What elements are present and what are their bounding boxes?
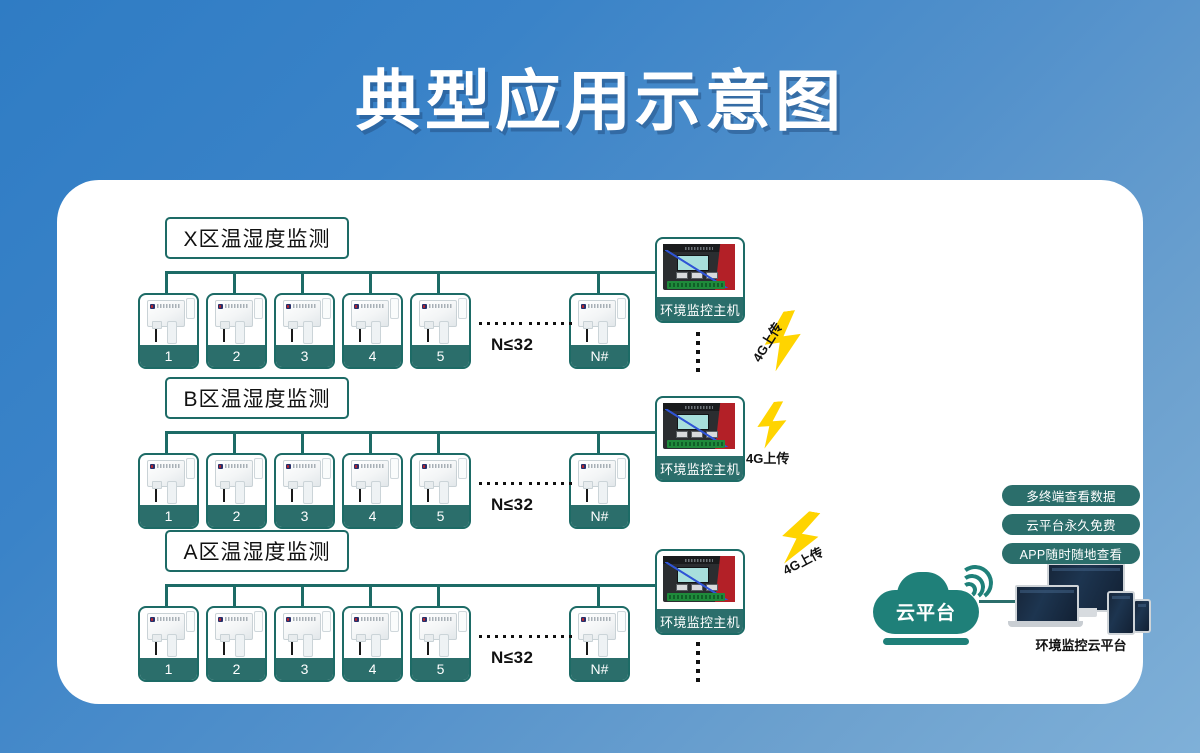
terminal-devices-icon bbox=[1015, 563, 1147, 635]
brand-logo-icon bbox=[218, 617, 223, 622]
sensor-probe-cable bbox=[291, 637, 293, 655]
ellipsis-dots bbox=[479, 322, 522, 325]
sensor-label-lines bbox=[588, 304, 611, 308]
sensor-graphic bbox=[412, 608, 469, 658]
sensor-label-lines bbox=[361, 617, 384, 621]
sensor-vent-icon bbox=[458, 611, 467, 632]
sensor-number: 5 bbox=[412, 505, 469, 527]
sensor-label-lines bbox=[361, 464, 384, 468]
laptop-icon bbox=[1015, 585, 1079, 625]
sensor-probe-body bbox=[371, 481, 381, 504]
brand-logo-icon bbox=[422, 617, 427, 622]
laptop-base bbox=[1008, 621, 1083, 627]
sensor-probe-cable bbox=[586, 324, 588, 342]
sensor-number: N# bbox=[571, 658, 628, 680]
brand-logo-icon bbox=[581, 464, 586, 469]
brand-logo-icon bbox=[354, 464, 359, 469]
sensor-node[interactable]: 3 bbox=[274, 293, 335, 369]
sensor-probe-body bbox=[303, 634, 313, 657]
brand-logo-icon bbox=[218, 464, 223, 469]
sensor-probe-body bbox=[598, 321, 608, 344]
sensor-number: N# bbox=[571, 505, 628, 527]
sensor-number: 3 bbox=[276, 505, 333, 527]
sensor-label-lines bbox=[588, 464, 611, 468]
sensor-graphic bbox=[140, 295, 197, 345]
sensor-probe-body bbox=[439, 321, 449, 344]
zone-title-x: X区温湿度监测 bbox=[165, 217, 349, 259]
sensor-label-lines bbox=[157, 304, 180, 308]
sensor-probe-body bbox=[598, 481, 608, 504]
sensor-vent-icon bbox=[322, 458, 331, 479]
sensor-graphic bbox=[412, 295, 469, 345]
sensor-label-lines bbox=[361, 304, 384, 308]
sensor-label-lines bbox=[157, 464, 180, 468]
sensor-probe-body bbox=[167, 321, 177, 344]
sensor-graphic bbox=[571, 608, 628, 658]
sensor-node[interactable]: 2 bbox=[206, 293, 267, 369]
zone-title-a: A区温湿度监测 bbox=[165, 530, 349, 572]
host-stack-ellipsis bbox=[696, 642, 700, 682]
sensor-node[interactable]: 1 bbox=[138, 293, 199, 369]
brand-logo-icon bbox=[286, 464, 291, 469]
sensor-probe-cable bbox=[427, 484, 429, 502]
sensor-probe-body bbox=[598, 634, 608, 657]
sensor-label-lines bbox=[588, 617, 611, 621]
sensor-probe-cable bbox=[223, 324, 225, 342]
sensor-probe-cable bbox=[223, 484, 225, 502]
sensor-vent-icon bbox=[617, 611, 626, 632]
ellipsis-dots bbox=[479, 635, 522, 638]
sensor-graphic bbox=[276, 608, 333, 658]
sensor-probe-body bbox=[371, 634, 381, 657]
brand-logo-icon bbox=[286, 617, 291, 622]
sensor-label-lines bbox=[225, 304, 248, 308]
capacity-label: N≤32 bbox=[491, 335, 534, 355]
bus-line-b bbox=[165, 431, 721, 434]
sensor-node[interactable]: 1 bbox=[138, 606, 199, 682]
sensor-graphic bbox=[344, 295, 401, 345]
bus-line-x bbox=[165, 271, 721, 274]
uplink-label: 4G上传 bbox=[746, 448, 789, 467]
host-controller[interactable]: 环境监控主机 bbox=[655, 237, 745, 323]
host-controller[interactable]: 环境监控主机 bbox=[655, 396, 745, 482]
sensor-vent-icon bbox=[186, 458, 195, 479]
sensor-vent-icon bbox=[322, 298, 331, 319]
sensor-probe-cable bbox=[427, 637, 429, 655]
sensor-probe-cable bbox=[586, 637, 588, 655]
sensor-probe-body bbox=[439, 481, 449, 504]
uplink-bolt-icon bbox=[747, 400, 796, 449]
sensor-node[interactable]: 2 bbox=[206, 606, 267, 682]
host-device-icon bbox=[663, 244, 735, 290]
feature-badge[interactable]: 多终端查看数据 bbox=[1002, 485, 1140, 506]
host-terminal-block bbox=[667, 440, 725, 448]
sensor-vent-icon bbox=[186, 298, 195, 319]
sensor-label-lines bbox=[429, 304, 452, 308]
sensor-number: 2 bbox=[208, 658, 265, 680]
host-label: 环境监控主机 bbox=[657, 609, 743, 633]
sensor-vent-icon bbox=[390, 458, 399, 479]
sensor-graphic bbox=[208, 295, 265, 345]
sensor-node[interactable]: N# bbox=[569, 453, 630, 529]
phone-icon bbox=[1133, 599, 1151, 633]
sensor-probe-cable bbox=[155, 324, 157, 342]
brand-logo-icon bbox=[422, 304, 427, 309]
bus-line-a bbox=[165, 584, 721, 587]
sensor-probe-cable bbox=[427, 324, 429, 342]
sensor-vent-icon bbox=[617, 458, 626, 479]
sensor-probe-cable bbox=[291, 324, 293, 342]
sensor-graphic bbox=[208, 455, 265, 505]
sensor-number: 2 bbox=[208, 345, 265, 367]
sensor-graphic bbox=[276, 295, 333, 345]
sensor-probe-cable bbox=[586, 484, 588, 502]
brand-logo-icon bbox=[581, 617, 586, 622]
host-terminal-block bbox=[667, 593, 725, 601]
sensor-node[interactable]: 5 bbox=[410, 606, 471, 682]
sensor-graphic bbox=[276, 455, 333, 505]
sensor-node[interactable]: 4 bbox=[342, 293, 403, 369]
sensor-number: 4 bbox=[344, 658, 401, 680]
sensor-label-lines bbox=[225, 617, 248, 621]
sensor-node[interactable]: 4 bbox=[342, 453, 403, 529]
ellipsis-dots bbox=[479, 482, 522, 485]
ellipsis-dots bbox=[529, 635, 572, 638]
sensor-number: N# bbox=[571, 345, 628, 367]
sensor-vent-icon bbox=[254, 458, 263, 479]
sensor-graphic bbox=[412, 455, 469, 505]
sensor-probe-cable bbox=[359, 324, 361, 342]
sensor-graphic bbox=[140, 455, 197, 505]
tablet-icon bbox=[1107, 591, 1135, 635]
cloud-base-bar bbox=[883, 638, 969, 645]
brand-logo-icon bbox=[354, 617, 359, 622]
sensor-number: 3 bbox=[276, 658, 333, 680]
sensor-graphic bbox=[571, 295, 628, 345]
cloud-platform[interactable]: 云平台 bbox=[873, 572, 979, 634]
brand-logo-icon bbox=[422, 464, 427, 469]
sensor-node[interactable]: 1 bbox=[138, 453, 199, 529]
terminals-label: 环境监控云平台 bbox=[1015, 635, 1147, 654]
sensor-number: 1 bbox=[140, 345, 197, 367]
sensor-label-lines bbox=[293, 617, 316, 621]
brand-logo-icon bbox=[150, 464, 155, 469]
host-stack-ellipsis bbox=[696, 332, 700, 372]
sensor-probe-body bbox=[235, 634, 245, 657]
sensor-node[interactable]: 2 bbox=[206, 453, 267, 529]
sensor-number: 5 bbox=[412, 658, 469, 680]
sensor-number: 2 bbox=[208, 505, 265, 527]
sensor-number: 3 bbox=[276, 345, 333, 367]
host-label: 环境监控主机 bbox=[657, 297, 743, 321]
host-device-icon bbox=[663, 556, 735, 602]
brand-logo-icon bbox=[150, 304, 155, 309]
sensor-graphic bbox=[571, 455, 628, 505]
sensor-graphic bbox=[208, 608, 265, 658]
sensor-vent-icon bbox=[186, 611, 195, 632]
diagram-card: X区温湿度监测 1 2 bbox=[57, 180, 1143, 704]
sensor-probe-cable bbox=[359, 637, 361, 655]
sensor-graphic bbox=[344, 608, 401, 658]
sensor-number: 1 bbox=[140, 505, 197, 527]
capacity-label: N≤32 bbox=[491, 495, 534, 515]
sensor-label-lines bbox=[293, 304, 316, 308]
sensor-number: 5 bbox=[412, 345, 469, 367]
sensor-probe-body bbox=[439, 634, 449, 657]
feature-badge[interactable]: APP随时随地查看 bbox=[1002, 543, 1140, 564]
cloud-label: 云平台 bbox=[873, 598, 979, 625]
sensor-vent-icon bbox=[254, 611, 263, 632]
sensor-probe-body bbox=[167, 634, 177, 657]
host-controller[interactable]: 环境监控主机 bbox=[655, 549, 745, 635]
sensor-probe-cable bbox=[359, 484, 361, 502]
page-title: 典型应用示意图 bbox=[0, 48, 1200, 144]
sensor-probe-body bbox=[235, 321, 245, 344]
sensor-probe-body bbox=[167, 481, 177, 504]
sensor-node[interactable]: N# bbox=[569, 606, 630, 682]
sensor-number: 1 bbox=[140, 658, 197, 680]
brand-logo-icon bbox=[581, 304, 586, 309]
sensor-graphic bbox=[344, 455, 401, 505]
brand-logo-icon bbox=[150, 617, 155, 622]
sensor-probe-cable bbox=[291, 484, 293, 502]
sensor-probe-cable bbox=[223, 637, 225, 655]
feature-badge[interactable]: 云平台永久免费 bbox=[1002, 514, 1140, 535]
sensor-node[interactable]: 4 bbox=[342, 606, 403, 682]
sensor-probe-cable bbox=[155, 484, 157, 502]
host-device-icon bbox=[663, 403, 735, 449]
host-label: 环境监控主机 bbox=[657, 456, 743, 480]
sensor-node[interactable]: 3 bbox=[274, 606, 335, 682]
sensor-node[interactable]: 5 bbox=[410, 453, 471, 529]
sensor-vent-icon bbox=[322, 611, 331, 632]
sensor-number: 4 bbox=[344, 345, 401, 367]
ellipsis-dots bbox=[529, 482, 572, 485]
brand-logo-icon bbox=[218, 304, 223, 309]
sensor-vent-icon bbox=[458, 298, 467, 319]
sensor-probe-body bbox=[303, 481, 313, 504]
sensor-label-lines bbox=[429, 464, 452, 468]
sensor-vent-icon bbox=[390, 298, 399, 319]
sensor-vent-icon bbox=[390, 611, 399, 632]
sensor-probe-body bbox=[371, 321, 381, 344]
sensor-vent-icon bbox=[254, 298, 263, 319]
sensor-node[interactable]: 3 bbox=[274, 453, 335, 529]
zone-title-b: B区温湿度监测 bbox=[165, 377, 349, 419]
capacity-label: N≤32 bbox=[491, 648, 534, 668]
sensor-node[interactable]: 5 bbox=[410, 293, 471, 369]
sensor-number: 4 bbox=[344, 505, 401, 527]
brand-logo-icon bbox=[286, 304, 291, 309]
sensor-label-lines bbox=[225, 464, 248, 468]
sensor-probe-body bbox=[303, 321, 313, 344]
brand-logo-icon bbox=[354, 304, 359, 309]
host-terminal-block bbox=[667, 281, 725, 289]
ellipsis-dots bbox=[529, 322, 572, 325]
sensor-graphic bbox=[140, 608, 197, 658]
sensor-label-lines bbox=[157, 617, 180, 621]
sensor-probe-body bbox=[235, 481, 245, 504]
sensor-vent-icon bbox=[458, 458, 467, 479]
sensor-probe-cable bbox=[155, 637, 157, 655]
sensor-node[interactable]: N# bbox=[569, 293, 630, 369]
sensor-label-lines bbox=[429, 617, 452, 621]
sensor-vent-icon bbox=[617, 298, 626, 319]
sensor-label-lines bbox=[293, 464, 316, 468]
